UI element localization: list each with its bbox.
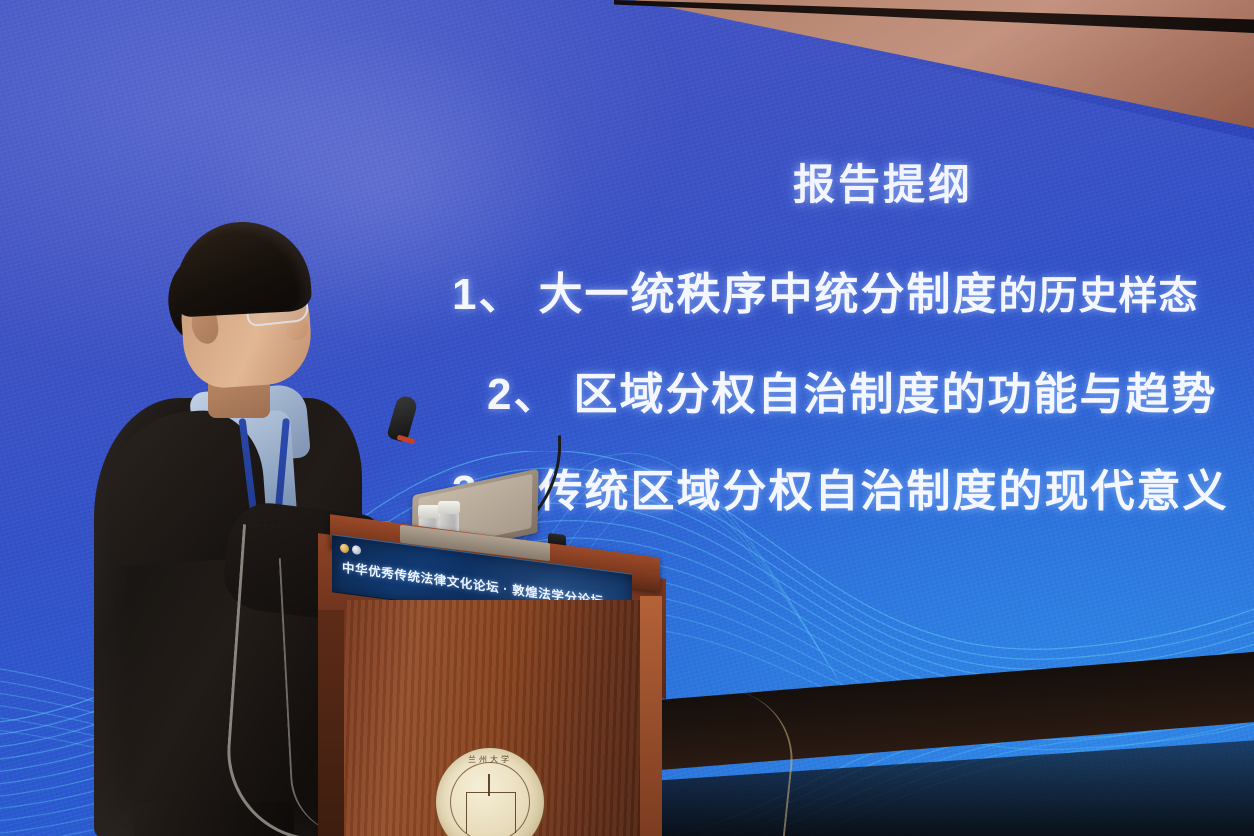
gold-seal-logo-icon xyxy=(340,543,349,553)
emblem-building-icon xyxy=(466,792,516,833)
emblem-label: 兰州大学 xyxy=(436,754,544,765)
slide-title: 报告提纲 xyxy=(763,163,1003,207)
silver-seal-logo-icon xyxy=(352,545,361,555)
speaker-hair xyxy=(172,219,313,318)
bottle-cap-1 xyxy=(418,505,440,518)
slide-item-number-1: 1、 xyxy=(452,270,524,319)
emblem-spire-icon xyxy=(488,774,490,796)
slide-item-number-2: 2、 xyxy=(487,370,559,419)
slide-outline-item-2: 2、区域分权自治制度的功能与趋势 xyxy=(487,358,1217,422)
podium-right-edge xyxy=(640,596,662,836)
university-emblem: 兰州大学 xyxy=(436,748,544,836)
slide-item-tail-1: 的历史样态 xyxy=(998,275,1198,318)
slide-item-text-1: 大一统秩序中统分制度 xyxy=(538,270,998,319)
slide-outline-item-3: 3、传统区域分权自治制度的现代意义 xyxy=(452,455,1228,519)
bottle-cap-2 xyxy=(438,501,460,514)
screenshot-stage: 报告提纲 1、大一统秩序中统分制度的历史样态 2、区域分权自治制度的功能与趋势 … xyxy=(0,0,1254,836)
slide-item-text-2: 区域分权自治制度的功能与趋势 xyxy=(573,370,1217,419)
slide-outline-item-1: 1、大一统秩序中统分制度的历史样态 xyxy=(452,258,1199,322)
slide-item-text-3: 传统区域分权自治制度的现代意义 xyxy=(538,467,1228,516)
nameplate-logos xyxy=(340,543,361,555)
